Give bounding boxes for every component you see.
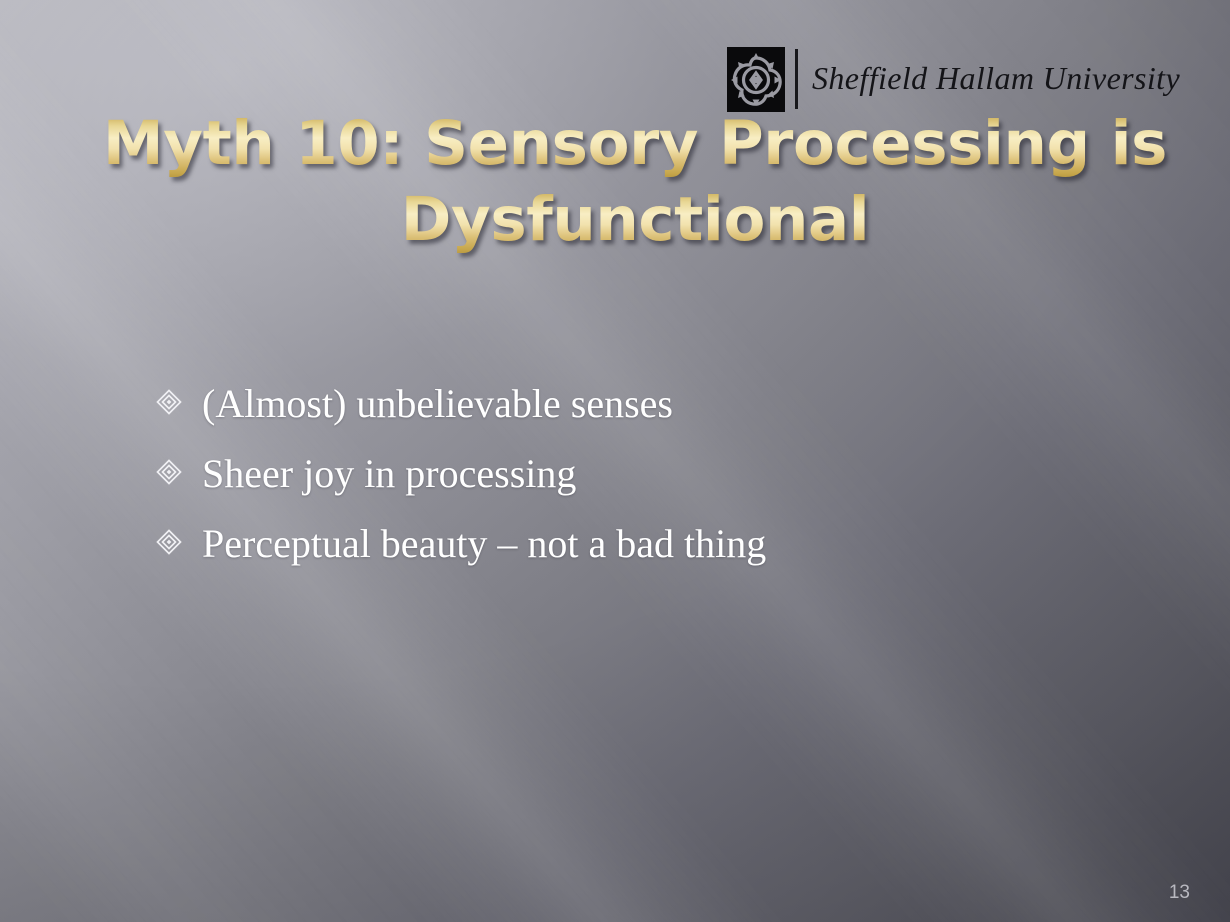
bullet-list: (Almost) unbelievable senses Sheer joy i… — [156, 380, 1136, 590]
list-item-label: Sheer joy in processing — [202, 450, 576, 498]
list-item: Sheer joy in processing — [156, 450, 1136, 520]
list-item: Perceptual beauty – not a bad thing — [156, 520, 1136, 590]
diamond-bullet-icon — [156, 389, 202, 415]
page-title-line-2: Dysfunctional — [401, 182, 870, 258]
diamond-bullet-icon — [156, 529, 202, 555]
page-title: Myth 10: Sensory Processing is Dysfuncti… — [100, 106, 1170, 258]
list-item: (Almost) unbelievable senses — [156, 380, 1136, 450]
presentation-slide: Sheffield Hallam University Myth 10: Sen… — [0, 0, 1230, 922]
university-logo-block: Sheffield Hallam University — [727, 46, 1180, 112]
list-item-label: (Almost) unbelievable senses — [202, 380, 673, 428]
slide-page-number: 13 — [1169, 883, 1190, 902]
tudor-rose-logo-icon — [727, 47, 785, 112]
logo-divider — [795, 49, 798, 109]
page-title-line-1: Myth 10: Sensory Processing is — [103, 106, 1167, 182]
list-item-label: Perceptual beauty – not a bad thing — [202, 520, 766, 568]
university-wordmark: Sheffield Hallam University — [812, 62, 1180, 97]
diamond-bullet-icon — [156, 459, 202, 485]
